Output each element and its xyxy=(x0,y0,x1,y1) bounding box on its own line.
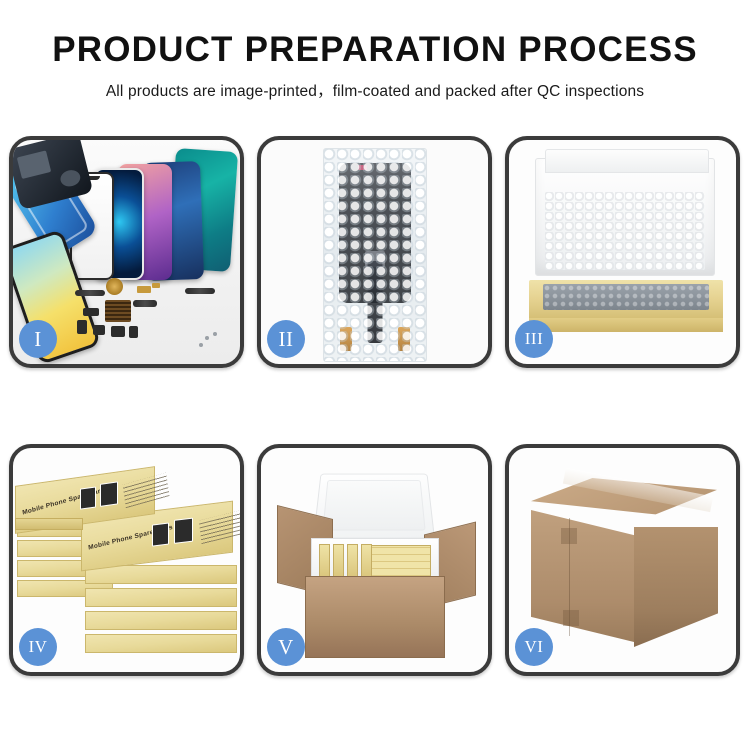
step-badge-4: IV xyxy=(19,628,57,666)
tool-part xyxy=(185,288,215,294)
gold-tab-right xyxy=(398,327,410,351)
product-preparation-page: PRODUCT PREPARATION PROCESS All products… xyxy=(0,0,750,750)
process-step-panel-5: V xyxy=(257,444,492,676)
kraft-box-front-edge xyxy=(529,318,723,332)
connector-part xyxy=(77,320,87,334)
step-badge-5: V xyxy=(267,628,305,666)
bubble-wrap-bag xyxy=(323,148,427,362)
box-photo-right-2 xyxy=(174,518,193,544)
lcd-flex-cable xyxy=(367,261,382,343)
process-step-panel-6: VI xyxy=(505,444,740,676)
process-step-panel-1: I xyxy=(9,136,244,368)
box-photo-left-1 xyxy=(80,486,96,509)
box-spec-lines-right xyxy=(199,510,240,544)
step-badge-3: III xyxy=(515,320,553,358)
screw-part-3 xyxy=(199,343,203,347)
lcd-pink-tab xyxy=(358,165,367,170)
box-photo-right-1 xyxy=(152,523,169,547)
flex-cable-part xyxy=(75,290,105,296)
yellow-box-upright-1 xyxy=(319,544,330,580)
carton-tab-upper xyxy=(561,528,577,544)
gold-contact-part-2 xyxy=(152,283,160,288)
yellow-box-upright-2 xyxy=(333,544,344,580)
carton-side-face xyxy=(634,527,718,647)
process-step-panel-4: Mobile Phone Spare Parts Mobile Phone Sp… xyxy=(9,444,244,676)
bracket-part xyxy=(93,325,105,335)
screw-part-2 xyxy=(213,332,217,336)
volume-flex-part xyxy=(133,300,157,307)
carton-tab-lower xyxy=(563,610,579,626)
step-badge-6: VI xyxy=(515,628,553,666)
step-badge-1: I xyxy=(19,320,57,358)
process-step-grid: I II xyxy=(9,136,741,676)
step-badge-2: II xyxy=(267,320,305,358)
box-photo-left-2 xyxy=(100,481,118,507)
stacked-box-r5 xyxy=(85,634,237,653)
bubble-wrapped-contents xyxy=(543,284,709,310)
small-chip-part xyxy=(83,308,99,316)
vibrator-part xyxy=(129,326,138,338)
page-title: PRODUCT PREPARATION PROCESS xyxy=(0,30,750,70)
carton-front-face xyxy=(531,510,634,642)
process-step-panel-3: III xyxy=(505,136,740,368)
screw-part-1 xyxy=(205,336,209,340)
box-foam-sheet xyxy=(545,192,705,270)
gold-tab-left xyxy=(340,327,352,351)
stacked-box-left-edge xyxy=(15,518,83,530)
gold-contact-part xyxy=(137,286,151,293)
yellow-box-upright-3 xyxy=(347,544,358,580)
camera-module-part xyxy=(111,326,125,337)
carton-body xyxy=(305,576,445,658)
kraft-box-base xyxy=(529,280,723,320)
page-header: PRODUCT PREPARATION PROCESS All products… xyxy=(0,0,750,101)
page-subtitle: All products are image-printed，film-coat… xyxy=(0,79,750,101)
box-spec-lines-left xyxy=(123,473,170,509)
speaker-coil-part xyxy=(106,278,123,295)
stacked-box-r3 xyxy=(85,588,237,607)
process-step-panel-2: II xyxy=(257,136,492,368)
stacked-box-r4 xyxy=(85,611,237,630)
camera-grid-part xyxy=(105,300,131,322)
